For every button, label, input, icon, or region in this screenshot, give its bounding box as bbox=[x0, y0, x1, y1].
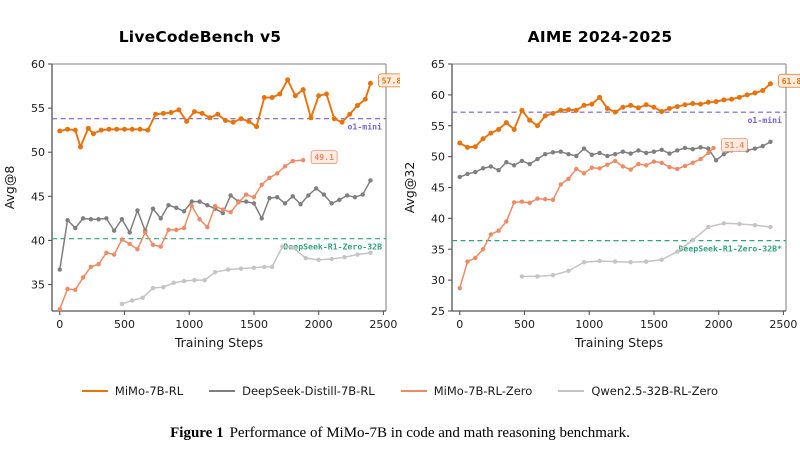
svg-text:DeepSeek-R1-Zero-32B: DeepSeek-R1-Zero-32B bbox=[283, 242, 382, 252]
svg-text:1000: 1000 bbox=[175, 318, 203, 331]
svg-text:51.4: 51.4 bbox=[725, 140, 745, 150]
svg-text:2000: 2000 bbox=[705, 318, 733, 331]
svg-text:0: 0 bbox=[56, 318, 63, 331]
svg-text:Training Steps: Training Steps bbox=[174, 335, 263, 350]
svg-text:45: 45 bbox=[431, 182, 445, 195]
legend-item-qwen25-32b-rl-zero: Qwen2.5-32B-RL-Zero bbox=[558, 384, 718, 398]
legend-swatch-icon bbox=[401, 390, 427, 392]
svg-text:55: 55 bbox=[31, 102, 45, 115]
svg-text:45: 45 bbox=[31, 190, 45, 203]
svg-text:1500: 1500 bbox=[240, 318, 268, 331]
svg-text:DeepSeek-R1-Zero-32B*: DeepSeek-R1-Zero-32B* bbox=[678, 244, 782, 254]
svg-text:25: 25 bbox=[431, 305, 445, 318]
svg-text:40: 40 bbox=[31, 234, 45, 247]
caption-text: Performance of MiMo-7B in code and math … bbox=[230, 425, 630, 441]
svg-text:49.1: 49.1 bbox=[314, 152, 334, 162]
figure-caption: Figure 1Performance of MiMo-7B in code a… bbox=[0, 425, 800, 442]
legend-item-mimo-7b-rl-zero: MiMo-7B-RL-Zero bbox=[401, 384, 533, 398]
chart-svg-left: 35404550556005001000150020002500Training… bbox=[0, 18, 400, 373]
svg-text:2000: 2000 bbox=[305, 318, 333, 331]
svg-text:50: 50 bbox=[31, 146, 45, 159]
svg-text:Training Steps: Training Steps bbox=[574, 335, 663, 350]
legend-label: MiMo-7B-RL bbox=[115, 384, 183, 398]
charts-row: LiveCodeBench v5 35404550556005001000150… bbox=[0, 18, 800, 373]
chart-panel-aime: AIME 2024-2025 2530354045505560650500100… bbox=[400, 18, 800, 373]
svg-text:500: 500 bbox=[514, 318, 535, 331]
caption-number: Figure 1 bbox=[170, 425, 223, 441]
svg-text:35: 35 bbox=[431, 243, 445, 256]
legend-swatch-icon bbox=[209, 390, 235, 392]
svg-text:65: 65 bbox=[431, 58, 445, 71]
svg-text:55: 55 bbox=[431, 120, 445, 133]
plot-area-left: 35404550556005001000150020002500Training… bbox=[0, 18, 400, 373]
svg-text:2500: 2500 bbox=[369, 318, 397, 331]
svg-text:o1-mini: o1-mini bbox=[347, 122, 382, 132]
svg-text:o1-mini: o1-mini bbox=[747, 115, 782, 125]
svg-text:50: 50 bbox=[431, 151, 445, 164]
legend-swatch-icon bbox=[558, 390, 584, 392]
svg-text:60: 60 bbox=[431, 89, 445, 102]
svg-text:Avg@32: Avg@32 bbox=[402, 162, 417, 214]
chart-svg-right: 25303540455055606505001000150020002500Tr… bbox=[400, 18, 800, 373]
svg-text:60: 60 bbox=[31, 58, 45, 71]
svg-text:30: 30 bbox=[431, 274, 445, 287]
svg-text:1000: 1000 bbox=[575, 318, 603, 331]
svg-text:61.8: 61.8 bbox=[782, 76, 800, 86]
legend-label: DeepSeek-Distill-7B-RL bbox=[242, 384, 375, 398]
svg-text:40: 40 bbox=[431, 212, 445, 225]
svg-text:57.8: 57.8 bbox=[382, 75, 400, 85]
legend-item-deepseek-distill-7b-rl: DeepSeek-Distill-7B-RL bbox=[209, 384, 375, 398]
svg-text:2500: 2500 bbox=[769, 318, 797, 331]
svg-text:35: 35 bbox=[31, 279, 45, 292]
legend-swatch-icon bbox=[82, 390, 108, 392]
chart-panel-livecodebench: LiveCodeBench v5 35404550556005001000150… bbox=[0, 18, 400, 373]
svg-text:Avg@8: Avg@8 bbox=[2, 166, 17, 210]
svg-text:0: 0 bbox=[456, 318, 463, 331]
chart-legend: MiMo-7B-RL DeepSeek-Distill-7B-RL MiMo-7… bbox=[0, 378, 800, 404]
legend-item-mimo-7b-rl: MiMo-7B-RL bbox=[82, 384, 183, 398]
plot-area-right: 25303540455055606505001000150020002500Tr… bbox=[400, 18, 800, 373]
svg-text:500: 500 bbox=[114, 318, 135, 331]
svg-text:1500: 1500 bbox=[640, 318, 668, 331]
legend-label: Qwen2.5-32B-RL-Zero bbox=[591, 384, 718, 398]
figure-container: LiveCodeBench v5 35404550556005001000150… bbox=[0, 0, 800, 467]
legend-label: MiMo-7B-RL-Zero bbox=[434, 384, 533, 398]
